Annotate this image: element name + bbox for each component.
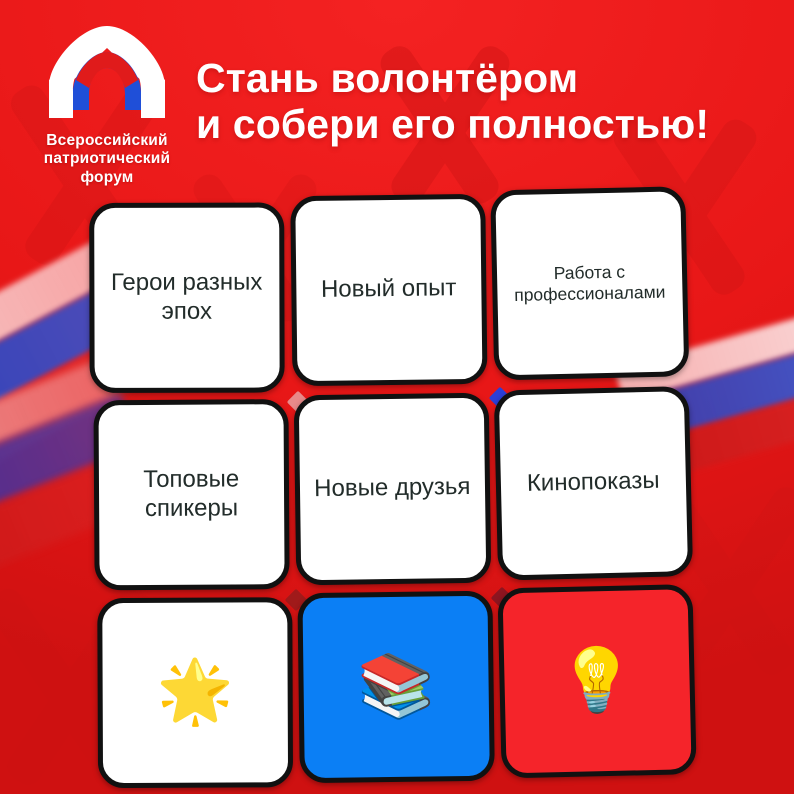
card-label: Топовые спикеры	[111, 465, 272, 524]
books-icon: 📚	[357, 656, 435, 719]
headline-line-2: и собери его полностью!	[196, 102, 786, 148]
card-label: Герои разных эпох	[106, 269, 267, 327]
glowing-star-icon: 🌟	[156, 662, 233, 724]
brand-name: Всероссийский патриотический форум	[12, 132, 202, 187]
card-label: Работа с профессионалами	[509, 260, 671, 305]
chevron-logo-icon	[37, 18, 177, 128]
light-bulb-icon: 💡	[558, 650, 637, 714]
card-7[interactable]: 🌟	[97, 598, 292, 789]
card-5[interactable]: Новые друзья	[293, 392, 490, 584]
brand-logo: Всероссийский патриотический форум	[12, 18, 202, 187]
card-1[interactable]: Герои разных эпох	[89, 202, 284, 392]
card-2[interactable]: Новый опыт	[290, 194, 487, 386]
card-6[interactable]: Кинопоказы	[494, 386, 693, 580]
card-label: Новый опыт	[321, 275, 457, 305]
page-title: Стань волонтёром и собери его полностью!	[196, 56, 786, 148]
card-label: Новые друзья	[314, 473, 471, 504]
card-3[interactable]: Работа с профессионалами	[491, 186, 690, 380]
brand-name-line-1: Всероссийский	[12, 132, 202, 150]
card-9[interactable]: 💡	[498, 584, 697, 778]
card-label: Кинопоказы	[527, 467, 660, 499]
brand-name-line-2: патриотический	[12, 150, 202, 168]
headline-line-1: Стань волонтёром	[196, 55, 578, 101]
card-4[interactable]: Топовые спикеры	[93, 399, 289, 590]
benefits-card-grid: Герои разных эпохНовый опытРабота с проф…	[87, 191, 698, 787]
brand-name-line-3: форум	[12, 169, 202, 187]
card-8[interactable]: 📚	[297, 591, 494, 783]
